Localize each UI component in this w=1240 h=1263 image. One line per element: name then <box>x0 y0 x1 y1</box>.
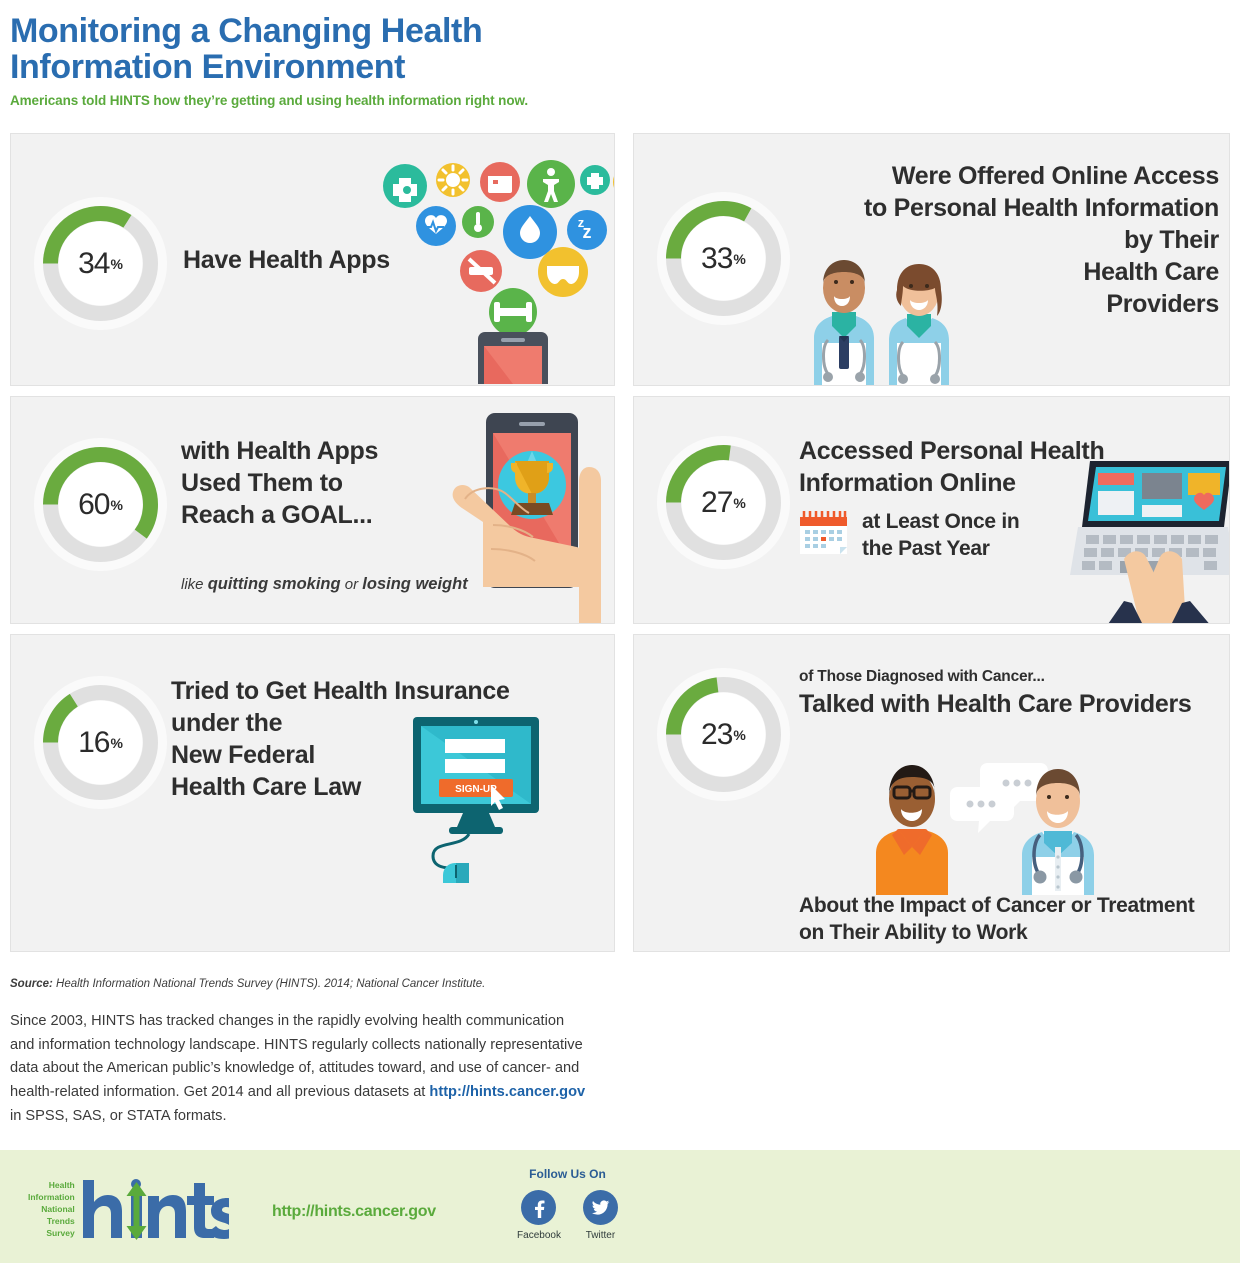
footer-url[interactable]: http://hints.cancer.gov <box>272 1203 436 1221</box>
logo-word-4: Trends <box>28 1215 75 1227</box>
card-note: like quitting smoking or losing weight <box>181 575 468 594</box>
footer-bar: Health Information National Trends Surve… <box>0 1150 1240 1263</box>
smiley-icon <box>613 164 615 200</box>
donut-value-60: 60% <box>33 437 168 572</box>
headline-line-2: Information Online <box>799 467 1104 499</box>
donut-chart-23: 23% <box>656 667 791 802</box>
hints-logo-expansion: Health Information National Trends Surve… <box>28 1179 79 1239</box>
page-title-line-1: Monitoring a Changing Health <box>10 12 482 50</box>
card-footer-headline: About the Impact of Cancer or Treatment … <box>799 893 1195 947</box>
headline-line-3: Reach a GOAL... <box>181 499 378 531</box>
card-offered-online-access: 33% Were Offered Online Access to Person… <box>633 133 1230 386</box>
social-link-facebook[interactable]: Facebook <box>517 1190 561 1241</box>
headline-line-1: Accessed Personal Health <box>799 435 1104 467</box>
source-line: Source: Health Information National Tren… <box>10 978 485 990</box>
card-headline: Talked with Health Care Providers <box>799 688 1192 720</box>
donut-chart-27: 27% <box>656 435 791 570</box>
body-copy-part-2: in SPSS, SAS, or STATA formats. <box>10 1108 227 1124</box>
two-doctors-illustration <box>784 244 1009 386</box>
card-headline: with Health Apps Used Them to Reach a GO… <box>181 435 378 531</box>
logo-word-3: National <box>28 1203 75 1215</box>
follow-us-section: Follow Us On Facebook Twitter <box>505 1167 630 1241</box>
donut-chart-33: 33% <box>656 191 791 326</box>
donut-chart-34: 34% <box>33 196 168 331</box>
twitter-icon <box>583 1190 618 1225</box>
social-link-twitter[interactable]: Twitter <box>583 1190 618 1241</box>
card-reach-a-goal: 60% with Health Apps Used Them to Reach … <box>10 396 615 624</box>
headline-line-1: Were Offered Online Access <box>799 160 1219 192</box>
page-subtitle: Americans told HINTS how they’re getting… <box>10 93 1240 108</box>
headline-line-1: Tried to Get Health Insurance <box>171 675 510 707</box>
facebook-label: Facebook <box>517 1230 561 1241</box>
logo-word-5: Survey <box>28 1227 75 1239</box>
card-subheadline: at Least Once in the Past Year <box>862 509 1019 563</box>
note-prefix: like <box>181 576 208 593</box>
footer-line-2: on Their Ability to Work <box>799 920 1195 947</box>
twitter-label: Twitter <box>583 1230 618 1241</box>
hands-typing-on-laptop-illustration <box>1064 455 1230 624</box>
logo-word-1: Health <box>28 1179 75 1191</box>
patient-and-doctor-talking-illustration <box>862 743 1122 895</box>
headline-line-2: Used Them to <box>181 467 378 499</box>
donut-value-27: 27% <box>656 435 791 570</box>
page-title-line-2: Information Environment <box>10 48 405 86</box>
hints-website-link[interactable]: http://hints.cancer.gov <box>429 1084 585 1100</box>
hand-holding-phone-trophy-illustration <box>441 407 615 624</box>
donut-chart-16: 16% <box>33 675 168 810</box>
card-eyebrow: of Those Diagnosed with Cancer... <box>799 668 1045 686</box>
donut-value-23: 23% <box>656 667 791 802</box>
follow-us-label: Follow Us On <box>505 1167 630 1181</box>
double-arrow-icon <box>126 1182 146 1240</box>
note-bold-1: quitting smoking <box>208 575 341 593</box>
card-row-2: 60% with Health Apps Used Them to Reach … <box>10 396 1230 624</box>
monitor-signup-illustration: SIGN-UP <box>409 713 559 883</box>
calendar-icon <box>796 507 851 562</box>
card-headline: Have Health Apps <box>183 244 390 276</box>
footer-line-1: About the Impact of Cancer or Treatment <box>799 893 1195 920</box>
logo-word-2: Information <box>28 1191 75 1203</box>
note-middle: or <box>341 576 363 593</box>
body-copy: Since 2003, HINTS has tracked changes in… <box>10 1010 590 1128</box>
hints-wordmark <box>79 1174 229 1244</box>
source-text: Health Information National Trends Surve… <box>53 978 486 990</box>
headline-line-1: with Health Apps <box>181 435 378 467</box>
signup-button-label: SIGN-UP <box>455 784 497 795</box>
card-accessed-online: 27% Accessed Personal Health Information… <box>633 396 1230 624</box>
social-links: Facebook Twitter <box>505 1190 630 1241</box>
smartphone-illustration <box>478 332 548 384</box>
card-headline: Accessed Personal Health Information Onl… <box>799 435 1104 499</box>
phone-with-health-app-icons-illustration: z z <box>383 154 615 384</box>
hints-logo[interactable]: Health Information National Trends Surve… <box>28 1174 229 1244</box>
headline-line-2: to Personal Health Information <box>799 192 1219 224</box>
donut-chart-60: 60% <box>33 437 168 572</box>
donut-value-34: 34% <box>33 196 168 331</box>
page-header: Monitoring a Changing Health Information… <box>0 0 1240 108</box>
donut-value-33: 33% <box>656 191 791 326</box>
card-row-1: 34% Have Health Apps <box>10 133 1230 386</box>
source-label: Source: <box>10 978 53 990</box>
svg-text:z: z <box>578 215 585 230</box>
donut-value-16: 16% <box>33 675 168 810</box>
facebook-icon <box>521 1190 556 1225</box>
card-health-apps: 34% Have Health Apps <box>10 133 615 386</box>
subheadline-line-2: the Past Year <box>862 536 1019 563</box>
card-health-insurance: 16% Tried to Get Health Insurance under … <box>10 634 615 952</box>
card-talked-with-providers: 23% of Those Diagnosed with Cancer... Ta… <box>633 634 1230 952</box>
page-title: Monitoring a Changing Health Information… <box>10 14 610 85</box>
stats-card-grid: 34% Have Health Apps <box>10 133 1230 962</box>
card-row-3: 16% Tried to Get Health Insurance under … <box>10 634 1230 952</box>
subheadline-line-1: at Least Once in <box>862 509 1019 536</box>
